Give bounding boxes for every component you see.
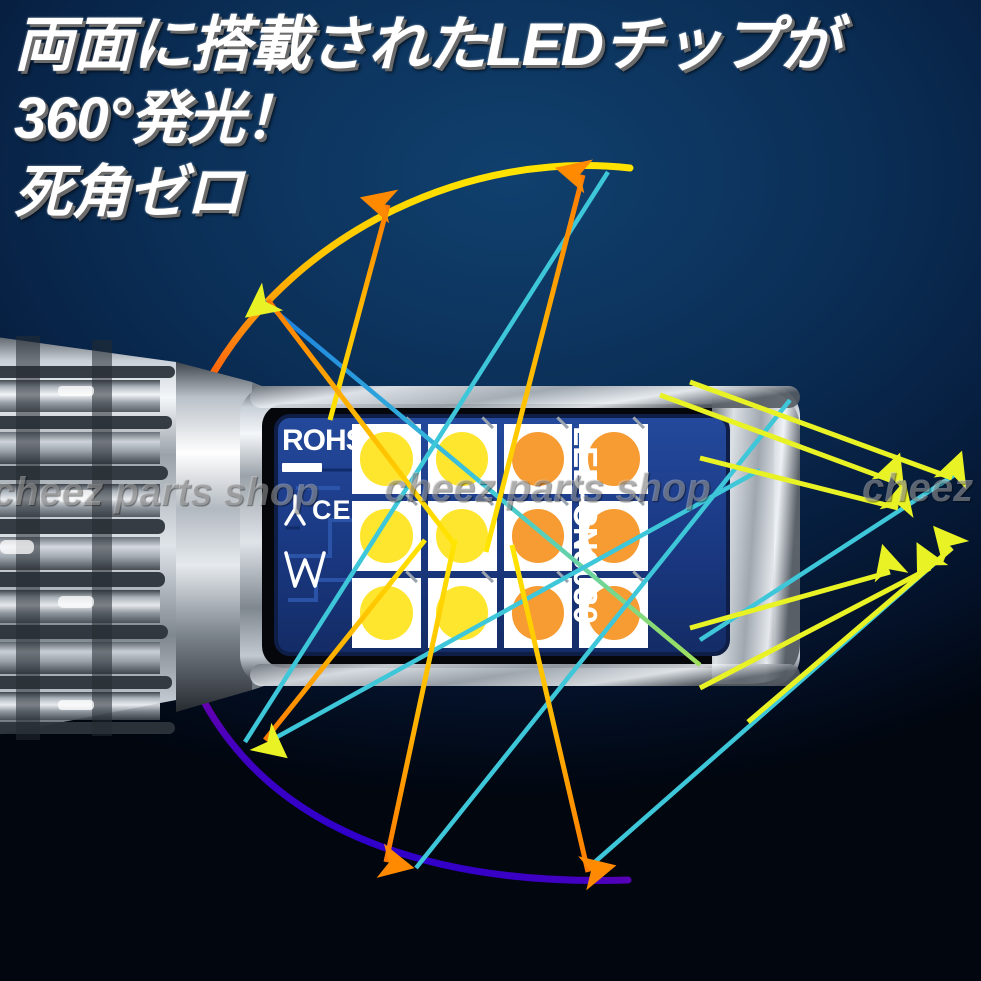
promo-image: 両面に搭載されたLEDチップが 360°発光！ 死角ゼロ (0, 0, 981, 981)
arrow-upper-left (268, 300, 455, 545)
arrow-up-left (330, 205, 388, 420)
arrow-down-right (512, 545, 588, 872)
headline-line-2: 360°発光！ (14, 82, 974, 156)
arrow-right-6 (748, 548, 952, 722)
arrow-lower-left (265, 540, 425, 740)
headline-block: 両面に搭載されたLEDチップが 360°発光！ 死角ゼロ (14, 8, 974, 230)
arrow-right-1 (660, 395, 890, 480)
beam (416, 400, 790, 868)
arrow-right-3 (700, 458, 898, 508)
headline-line-3: 死角ゼロ (14, 156, 974, 230)
headline-line-1: 両面に搭載されたLEDチップが (14, 8, 974, 82)
cross-beams (245, 172, 962, 868)
arrow-down-left (386, 540, 455, 862)
emission-arrows-right (660, 382, 952, 722)
arrow-up-right (486, 175, 583, 552)
